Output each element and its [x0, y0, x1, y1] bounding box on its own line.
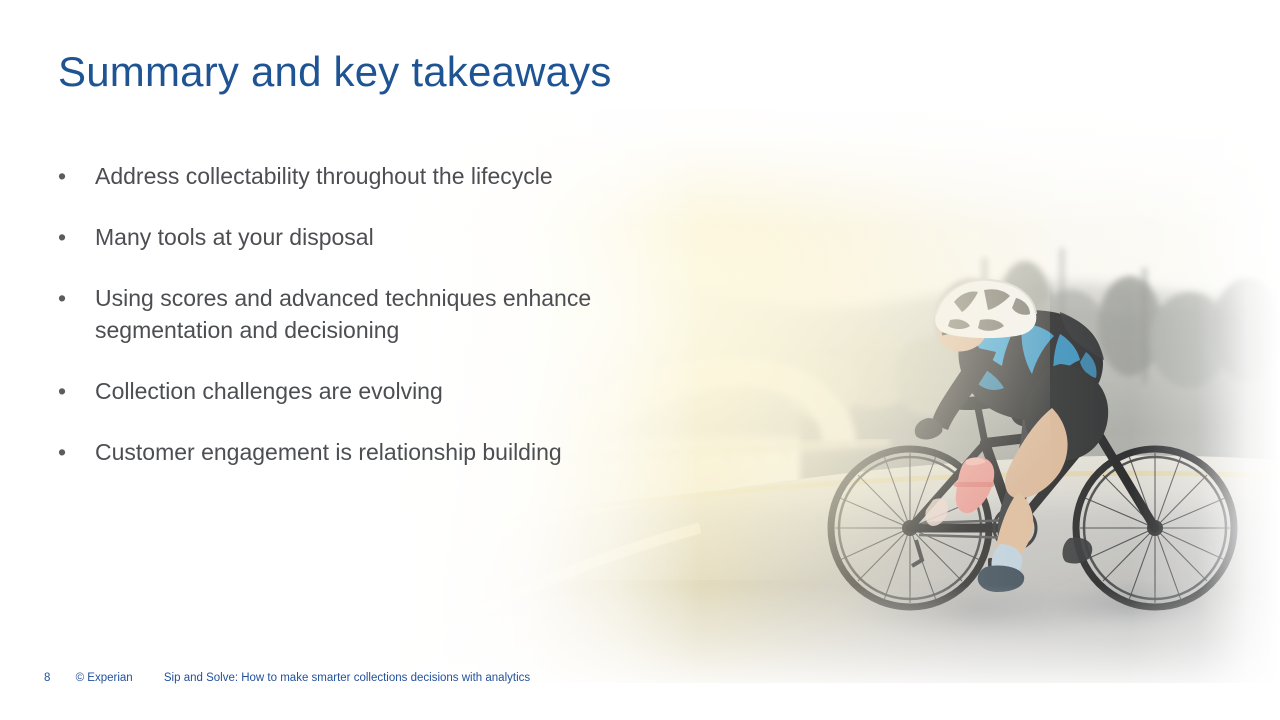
- bullet-text: Using scores and advanced techniques enh…: [95, 282, 610, 346]
- bullet-marker-icon: •: [50, 436, 95, 468]
- bullet-text: Many tools at your disposal: [95, 221, 610, 253]
- list-item: • Using scores and advanced techniques e…: [50, 282, 610, 346]
- slide-canvas: Summary and key takeaways • Address coll…: [0, 0, 1280, 720]
- list-item: • Customer engagement is relationship bu…: [50, 436, 610, 468]
- bullet-text: Customer engagement is relationship buil…: [95, 436, 610, 468]
- slide-footer: 8 © Experian Sip and Solve: How to make …: [44, 672, 530, 684]
- key-takeaways-list: • Address collectability throughout the …: [50, 160, 610, 497]
- bullet-text: Collection challenges are evolving: [95, 375, 610, 407]
- copyright-label: © Experian: [76, 672, 133, 684]
- list-item: • Address collectability throughout the …: [50, 160, 610, 192]
- slide-title: Summary and key takeaways: [58, 48, 612, 96]
- bullet-marker-icon: •: [50, 282, 95, 314]
- page-number: 8: [44, 672, 50, 684]
- bullet-text: Address collectability throughout the li…: [95, 160, 610, 192]
- list-item: • Many tools at your disposal: [50, 221, 610, 253]
- bullet-marker-icon: •: [50, 375, 95, 407]
- bullet-marker-icon: •: [50, 221, 95, 253]
- deck-title: Sip and Solve: How to make smarter colle…: [164, 672, 530, 684]
- list-item: • Collection challenges are evolving: [50, 375, 610, 407]
- bullet-marker-icon: •: [50, 160, 95, 192]
